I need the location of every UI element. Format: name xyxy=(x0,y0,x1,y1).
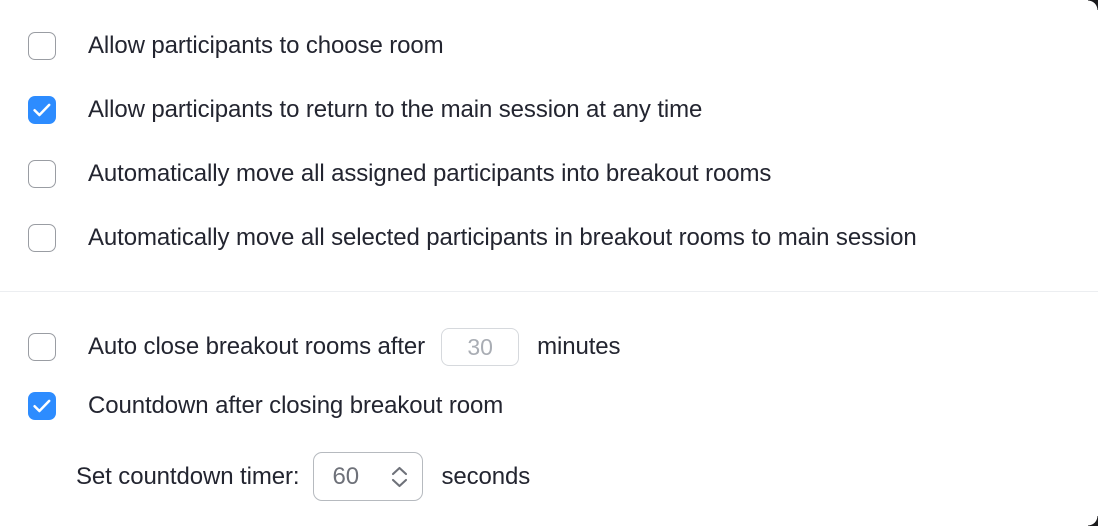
option-row-auto-move-selected[interactable]: Automatically move all selected particip… xyxy=(28,224,917,252)
label-allow-return-main-session: Allow participants to return to the main… xyxy=(88,98,702,122)
option-row-auto-close-breakout-rooms[interactable]: Auto close breakout rooms after 30 minut… xyxy=(28,328,620,366)
option-row-allow-return-main-session[interactable]: Allow participants to return to the main… xyxy=(28,96,702,124)
option-row-auto-move-assigned[interactable]: Automatically move all assigned particip… xyxy=(28,160,771,188)
checkbox-auto-close-breakout-rooms[interactable] xyxy=(28,333,56,361)
label-auto-close-breakout-rooms: Auto close breakout rooms after xyxy=(88,335,425,359)
countdown-timer-value[interactable]: 60 xyxy=(332,463,359,491)
option-row-set-countdown-timer: Set countdown timer: 60 seconds xyxy=(76,452,530,501)
checkbox-countdown-after-closing[interactable] xyxy=(28,392,56,420)
label-countdown-timer-unit-seconds: seconds xyxy=(441,465,530,489)
panel-corner-top-right xyxy=(1088,0,1098,10)
option-row-countdown-after-closing[interactable]: Countdown after closing breakout room xyxy=(28,392,503,420)
label-auto-move-assigned: Automatically move all assigned particip… xyxy=(88,162,771,186)
section-divider xyxy=(0,291,1098,292)
label-auto-move-selected: Automatically move all selected particip… xyxy=(88,226,917,250)
chevron-up-icon xyxy=(391,466,408,476)
label-countdown-after-closing: Countdown after closing breakout room xyxy=(88,394,503,418)
panel-corner-bottom-right xyxy=(1088,516,1098,526)
chevron-down-icon xyxy=(391,478,408,488)
option-row-allow-choose-room[interactable]: Allow participants to choose room xyxy=(28,32,444,60)
label-allow-choose-room: Allow participants to choose room xyxy=(88,34,444,58)
checkbox-auto-move-selected[interactable] xyxy=(28,224,56,252)
label-set-countdown-timer: Set countdown timer: xyxy=(76,465,299,489)
checkbox-allow-return-main-session[interactable] xyxy=(28,96,56,124)
stepper-arrows[interactable] xyxy=(391,466,408,488)
label-auto-close-unit-minutes: minutes xyxy=(537,335,620,359)
checkbox-allow-choose-room[interactable] xyxy=(28,32,56,60)
auto-close-minutes-input[interactable]: 30 xyxy=(441,328,519,366)
countdown-timer-stepper[interactable]: 60 xyxy=(313,452,423,501)
breakout-rooms-options-panel: Allow participants to choose room Allow … xyxy=(0,0,1098,526)
checkbox-auto-move-assigned[interactable] xyxy=(28,160,56,188)
